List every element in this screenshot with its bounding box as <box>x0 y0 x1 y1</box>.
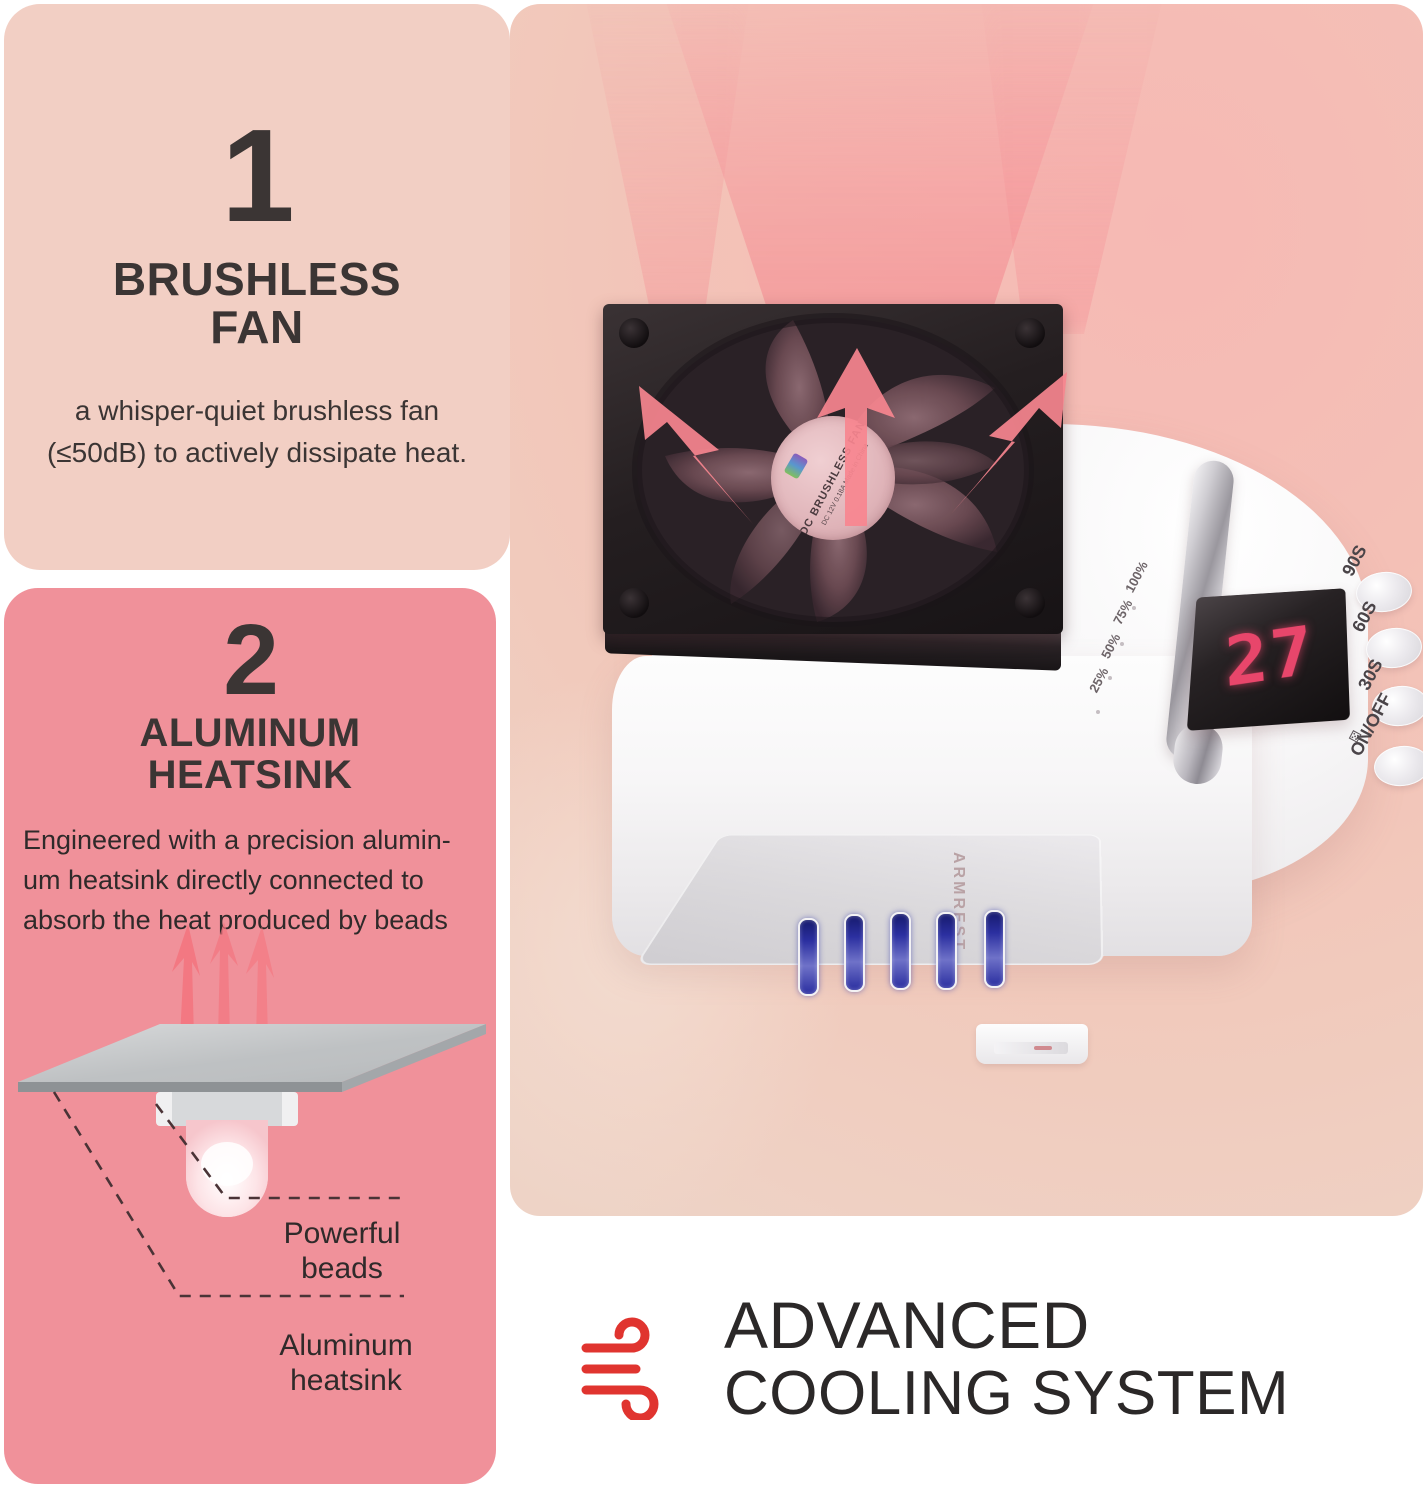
feature-number-1: 1 <box>221 110 292 242</box>
fan-hub-label: DC BRUSHLESS FAN DC 12V 0.18A Made in Ch… <box>771 416 895 540</box>
label-aluminum-heatsink-line2: heatsink <box>290 1364 402 1397</box>
brushless-fan-assembly: DC BRUSHLESS FAN DC 12V 0.18A Made in Ch… <box>603 304 1063 674</box>
feature-number-2: 2 <box>4 610 496 710</box>
feature-body-1: a whisper-quiet brushless fan (≤50dB) to… <box>27 390 487 474</box>
armrest-pad <box>635 834 1103 965</box>
bottom-title-line1: ADVANCED <box>724 1290 1289 1361</box>
battery-dot <box>1132 606 1136 610</box>
feature-heading-1-line1: BRUSHLESS <box>113 253 401 305</box>
battery-level-75: 75% <box>1110 597 1135 627</box>
feature-body-1-line1: a whisper-quiet brushless fan <box>75 395 439 426</box>
bottom-title-block: ADVANCED COOLING SYSTEM <box>580 1290 1420 1490</box>
label-aluminum-heatsink-line1: Aluminum <box>279 1329 412 1362</box>
base-foot-switch[interactable] <box>976 1024 1088 1064</box>
feature-heading-2-line1: ALUMINUM <box>140 711 361 755</box>
battery-dot <box>1108 676 1112 680</box>
fan-brand-logo-icon <box>784 452 809 479</box>
vent-led <box>844 914 865 992</box>
feature-body-2-line2: um heatsink directly connected to <box>23 865 424 895</box>
feature-heading-1: BRUSHLESS FAN <box>113 256 401 352</box>
vent-led <box>984 910 1005 988</box>
label-powerful-beads: Powerful beads <box>242 1216 442 1287</box>
product-photo-panel: ARMREST 27 100% 75% 50% 25% 90S <box>510 4 1423 1216</box>
bottom-title-text: ADVANCED COOLING SYSTEM <box>724 1290 1289 1428</box>
bottom-title-line2: COOLING SYSTEM <box>724 1361 1289 1428</box>
feature-panel-brushless-fan: 1 BRUSHLESS FAN a whisper-quiet brushles… <box>4 4 510 570</box>
aluminum-plate <box>12 1020 492 1098</box>
feature-body-2-line1: Engineered with a precision alumin- <box>23 825 451 855</box>
light-beam-right <box>980 4 1180 334</box>
feature-panel-aluminum-heatsink: 2 ALUMINUM HEATSINK Engineered with a pr… <box>4 588 496 1484</box>
light-beam-left <box>570 4 750 324</box>
battery-level-25: 25% <box>1086 665 1111 695</box>
feature-heading-2: ALUMINUM HEATSINK <box>4 712 496 797</box>
switch-indicator <box>1034 1046 1052 1050</box>
fan-frame: DC BRUSHLESS FAN DC 12V 0.18A Made in Ch… <box>603 304 1063 634</box>
battery-level-100: 100% <box>1122 559 1151 595</box>
fan-hub-spec-text: DC 12V 0.18A Made in China <box>807 417 884 540</box>
led-timer-display: 27 <box>1187 588 1350 731</box>
label-powerful-beads-line1: Powerful <box>284 1217 401 1250</box>
control-panel: 27 100% 75% 50% 25% 90S 60S 30S ON/OFF ⚄ <box>1070 564 1423 854</box>
feature-heading-2-line2: HEATSINK <box>148 753 353 797</box>
feature-heading-1-line2: FAN <box>210 301 304 353</box>
led-timer-value: 27 <box>1223 620 1318 694</box>
heatsink-diagram: Powerful beads Aluminum heatsink <box>4 898 496 1484</box>
power-switch[interactable] <box>994 1042 1068 1054</box>
label-aluminum-heatsink: Aluminum heatsink <box>236 1328 456 1399</box>
vent-led <box>890 912 911 990</box>
battery-dot <box>1120 642 1124 646</box>
label-powerful-beads-line2: beads <box>301 1252 383 1285</box>
fan-hub-brand-text: DC BRUSHLESS FAN <box>792 416 873 540</box>
vent-led <box>936 912 957 990</box>
feature-body-1-line2: (≤50dB) to actively dissipate heat. <box>47 437 467 468</box>
power-button[interactable] <box>1372 743 1423 789</box>
battery-dot <box>1096 710 1100 714</box>
battery-level-50: 50% <box>1098 631 1123 661</box>
vent-led <box>798 918 819 996</box>
airflow-icon <box>580 1314 666 1420</box>
